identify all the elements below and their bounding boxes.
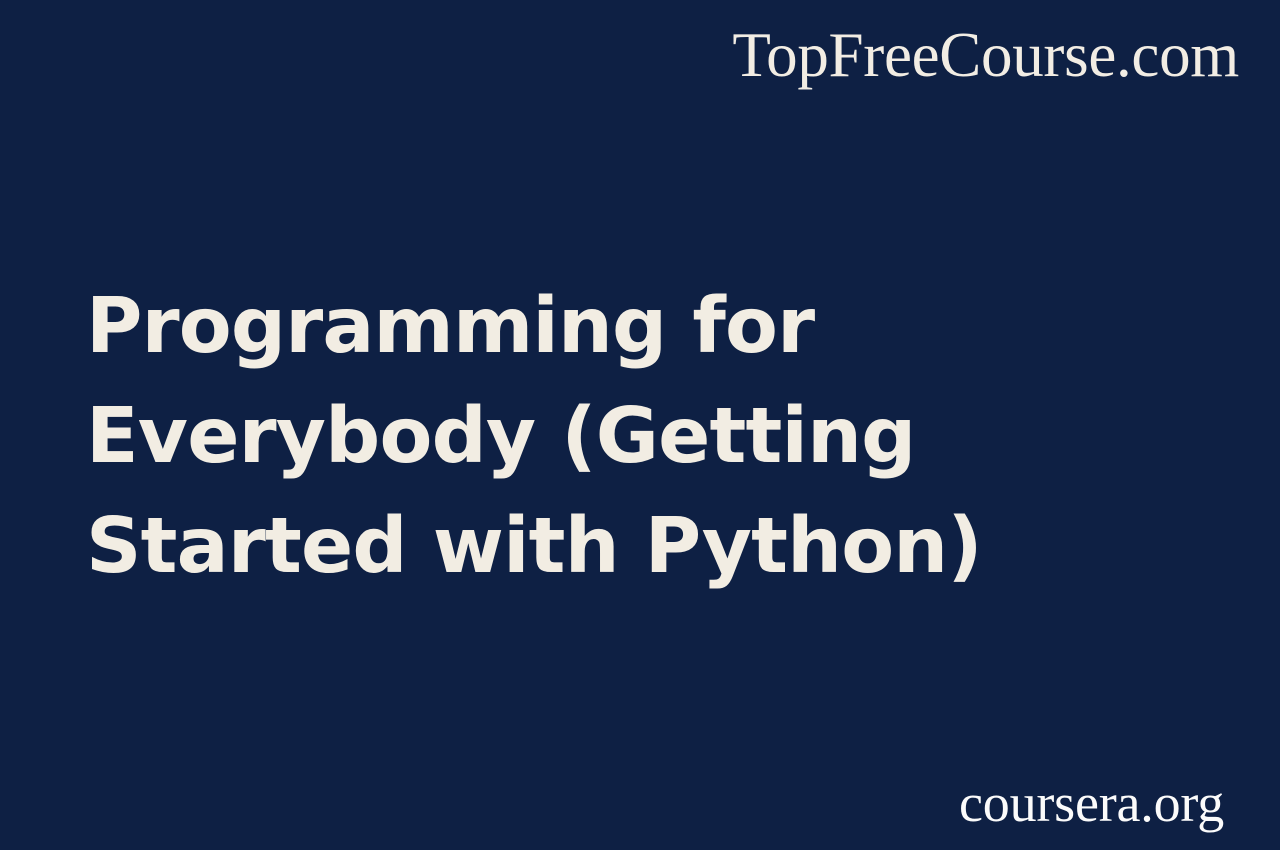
course-title-block: Programming for Everybody (Getting Start…: [86, 272, 1192, 602]
course-thumbnail-card: TopFreeCourse.com Programming for Everyb…: [0, 0, 1280, 850]
site-brand-watermark: TopFreeCourse.com: [732, 22, 1239, 88]
page-title: Programming for Everybody (Getting Start…: [86, 272, 1192, 602]
provider-label: coursera.org: [959, 775, 1224, 832]
